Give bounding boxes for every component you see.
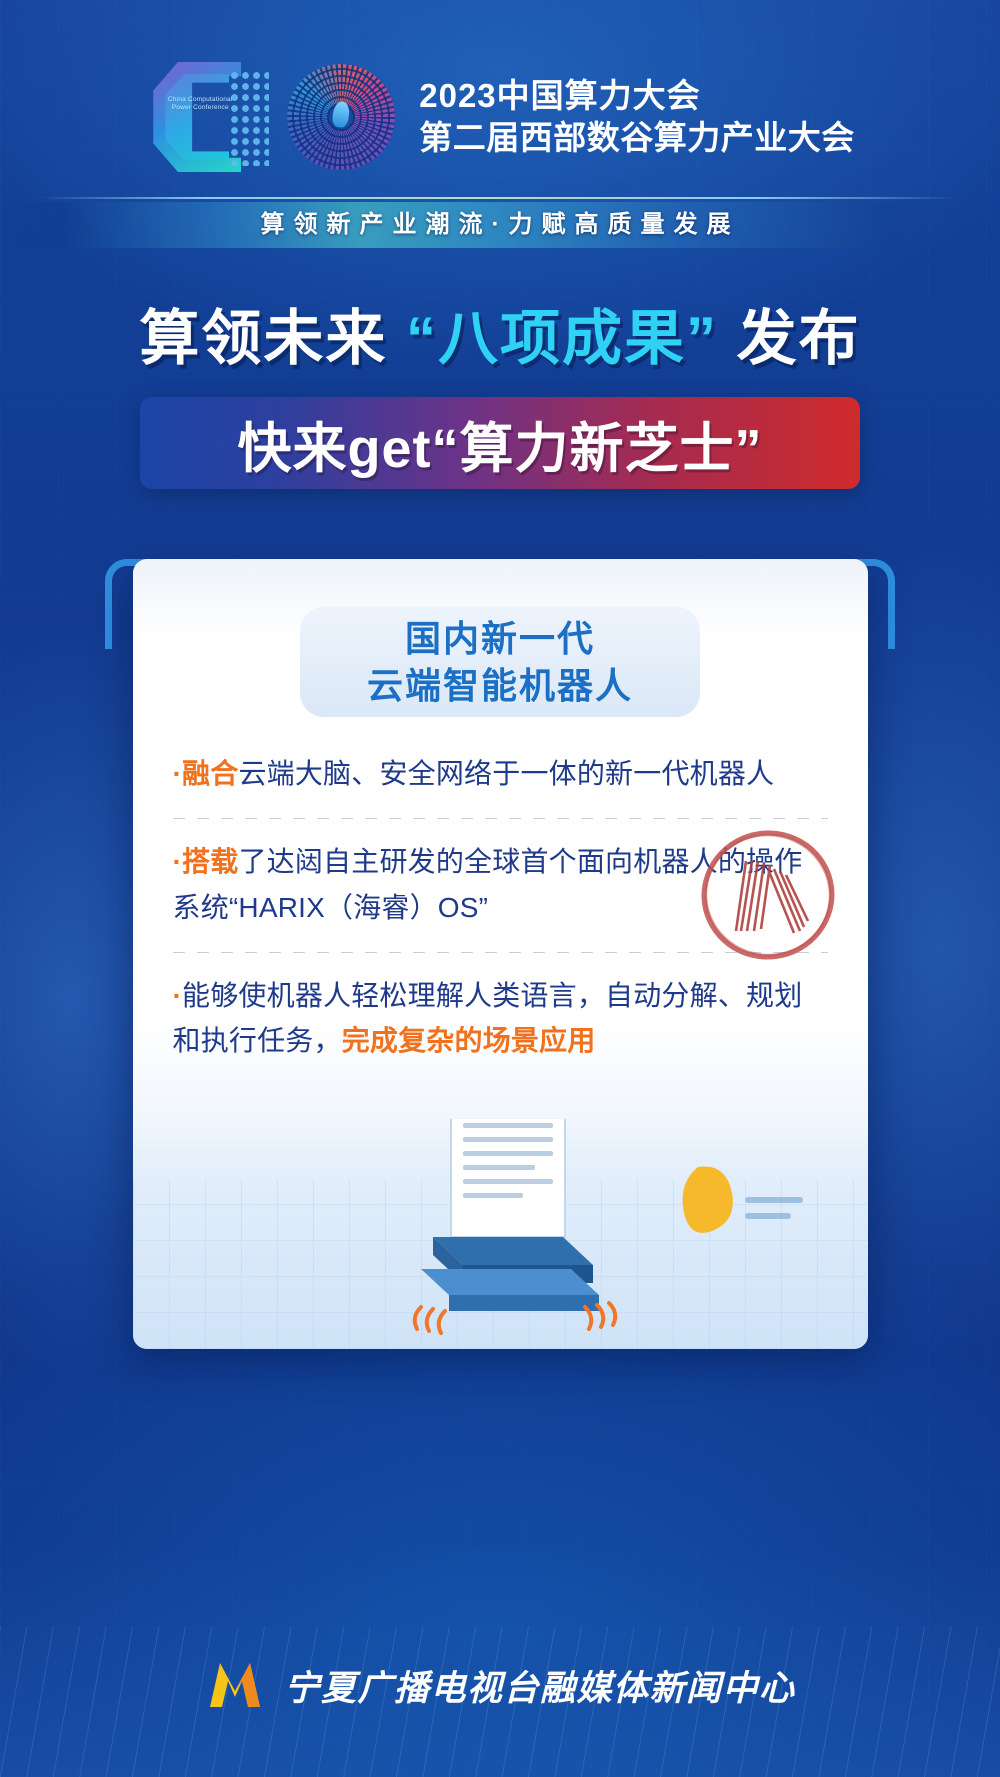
card-heading-pill: 国内新一代 云端智能机器人 bbox=[300, 607, 700, 717]
conference-header: China Computational Power Conference 202… bbox=[0, 0, 1000, 176]
main-title-line2-banner: 快来get“算力新芝士” bbox=[140, 397, 860, 489]
main-title-line1-highlight: “八项成果” bbox=[406, 305, 718, 372]
bullet-separator-2 bbox=[173, 952, 828, 953]
main-title-block: 算领未来 “八项成果” 发布 快来get“算力新芝士” bbox=[0, 290, 1000, 489]
result-card: 国内新一代 云端智能机器人 ·融合云端大脑、安全网络于一体的新一代机器人 ·搭载… bbox=[133, 559, 868, 1349]
illustration-platform-icon bbox=[421, 1237, 599, 1311]
main-title-line1-part2: 发布 bbox=[718, 305, 861, 372]
card-bullet-1: ·融合云端大脑、安全网络于一体的新一代机器人 bbox=[173, 751, 828, 796]
card-bullet-3: ·能够使机器人轻松理解人类语言，自动分解、规划和执行任务，完成复杂的场景应用 bbox=[173, 973, 828, 1064]
footer-text: 宁夏广播电视台融媒体新闻中心 bbox=[284, 1660, 795, 1711]
result-card-zone: 国内新一代 云端智能机器人 ·融合云端大脑、安全网络于一体的新一代机器人 ·搭载… bbox=[105, 559, 895, 1349]
conference-hexagon-logo-icon: China Computational Power Conference bbox=[145, 58, 263, 176]
bullet-text-2: 了达闼自主研发的全球首个面向机器人的操作系统“HARIX（海睿）OS” bbox=[173, 846, 803, 922]
bullet-marker-2: · bbox=[173, 846, 183, 877]
bullet-marker-1: · bbox=[173, 758, 183, 789]
slogan-text: 算领新产业潮流·力赋高质量发展 bbox=[0, 202, 1000, 248]
bullet-separator-1 bbox=[173, 818, 828, 819]
hexagon-logo-caption: China Computational Power Conference bbox=[167, 96, 233, 112]
main-title-line1-part1: 算领未来 bbox=[139, 305, 406, 372]
conference-title-line1: 2023中国算力大会 bbox=[419, 75, 855, 117]
slogan-banner: 算领新产业潮流·力赋高质量发展 bbox=[0, 202, 1000, 248]
card-bullet-list: ·融合云端大脑、安全网络于一体的新一代机器人 ·搭载了达闼自主研发的全球首个面向… bbox=[173, 751, 828, 1064]
conference-title: 2023中国算力大会 第二届西部数谷算力产业大会 bbox=[419, 75, 855, 158]
illustration-document-icon bbox=[451, 1119, 565, 1237]
illustration-leaf-icon bbox=[682, 1167, 732, 1233]
card-bullet-2: ·搭载了达闼自主研发的全球首个面向机器人的操作系统“HARIX（海睿）OS” bbox=[173, 839, 828, 930]
main-title-line2: 快来get“算力新芝士” bbox=[238, 404, 763, 483]
bullet-highlight-2: 搭载 bbox=[182, 846, 238, 877]
slogan-banner-topline bbox=[40, 197, 960, 199]
bullet-highlight-1: 融合 bbox=[182, 758, 238, 789]
card-heading-line2: 云端智能机器人 bbox=[367, 663, 633, 708]
bullet-tail-highlight-3: 完成复杂的场景应用 bbox=[342, 1025, 596, 1056]
bullet-marker-3: · bbox=[173, 980, 183, 1011]
conference-title-line2: 第二届西部数谷算力产业大会 bbox=[419, 117, 855, 159]
conference-fan-logo-icon bbox=[281, 58, 401, 176]
footer-branding: 宁夏广播电视台融媒体新闻中心 bbox=[0, 1657, 1000, 1713]
ningxia-tv-logo-icon bbox=[204, 1657, 266, 1713]
main-title-line1: 算领未来 “八项成果” 发布 bbox=[0, 290, 1000, 377]
card-heading-line1: 国内新一代 bbox=[405, 616, 595, 661]
bullet-text-1: 云端大脑、安全网络于一体的新一代机器人 bbox=[238, 758, 774, 789]
card-illustration bbox=[133, 1119, 868, 1349]
